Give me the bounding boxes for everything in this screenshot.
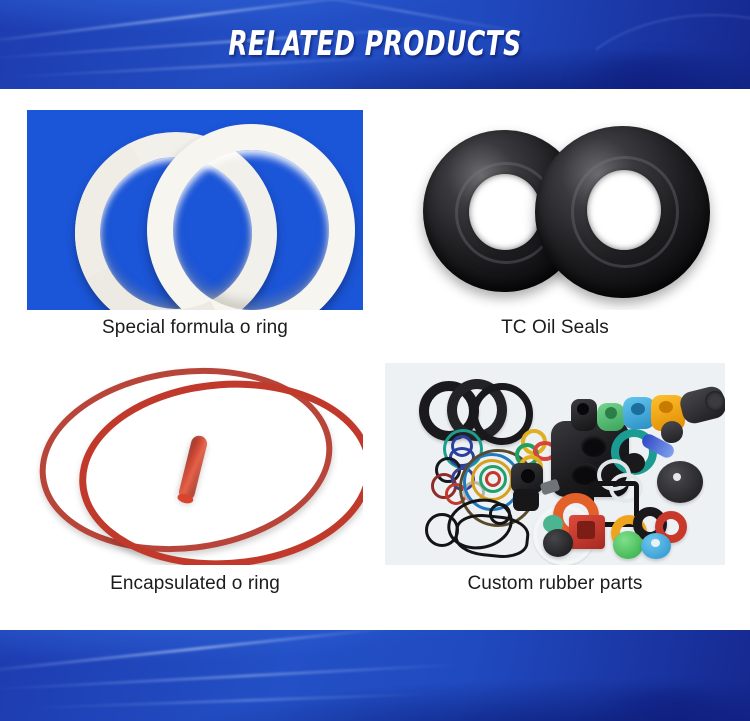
rubber-part-black-fitting (513, 489, 539, 511)
rubber-part-green-cap (613, 531, 643, 559)
rubber-part-sleeve-bore (631, 403, 645, 415)
oil-seal-bore (587, 170, 661, 250)
rubber-part-black-cap (543, 529, 573, 557)
faq-banner: FAQ (0, 630, 750, 721)
rubber-part-bellows-bore (577, 403, 589, 415)
oil-seal-bore (469, 174, 541, 250)
product-image-special-formula-o-ring[interactable] (27, 110, 363, 310)
rubber-part-black-plug (661, 421, 683, 443)
rubber-part-cap-hole (651, 539, 660, 547)
rubber-part-disc-hole (673, 473, 681, 481)
product-image-custom-rubber-parts[interactable] (385, 363, 725, 565)
product-image-tc-oil-seals[interactable] (385, 110, 725, 310)
product-caption: Encapsulated o ring (27, 573, 363, 595)
product-image-encapsulated-o-ring[interactable] (27, 363, 363, 565)
related-products-page: RELATED PRODUCTS Special formula o ring … (0, 0, 750, 721)
page-title: RELATED PRODUCTS (68, 24, 683, 64)
rubber-part-block-port (581, 435, 607, 457)
rubber-part-sleeve-bore (605, 407, 617, 419)
product-caption: Custom rubber parts (385, 573, 725, 595)
rubber-part-gasket-ring (489, 503, 511, 525)
rubber-part-tube-bore (705, 391, 725, 411)
oil-seal-shape (535, 126, 710, 298)
related-products-banner: RELATED PRODUCTS (0, 0, 750, 89)
rubber-part-red-block-cavity (577, 521, 595, 539)
rubber-part-fitting-bore (521, 469, 535, 483)
product-caption: TC Oil Seals (385, 317, 725, 339)
rubber-part-sleeve-bore (659, 401, 673, 413)
product-caption: Special formula o ring (27, 317, 363, 339)
rubber-part-black-disc (657, 461, 703, 503)
